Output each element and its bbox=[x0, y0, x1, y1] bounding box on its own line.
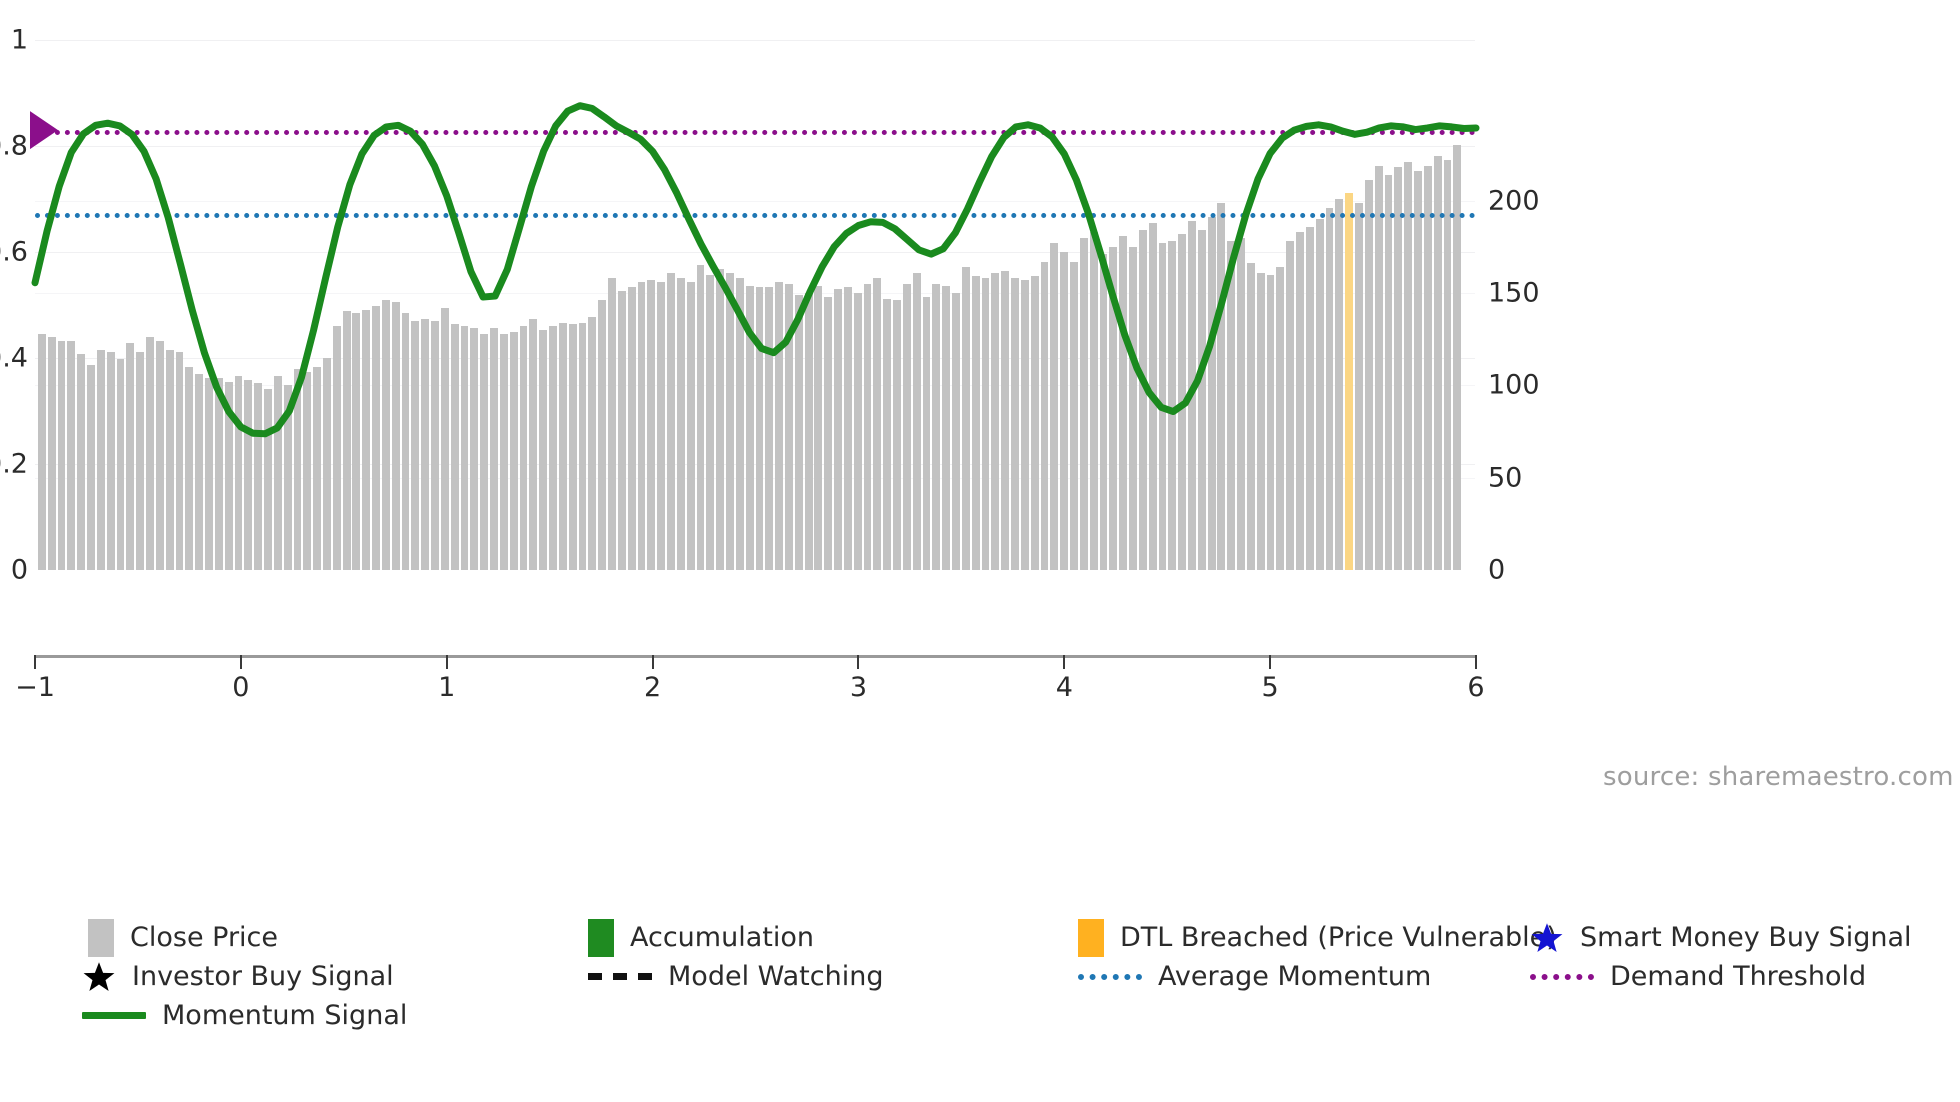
price-bar bbox=[510, 332, 518, 570]
legend-swatch-icon bbox=[588, 919, 614, 957]
price-bar bbox=[362, 310, 370, 570]
y-axis-right-tick-label: 50 bbox=[1488, 462, 1522, 493]
price-bar bbox=[1041, 262, 1049, 570]
legend-item[interactable]: DTL Breached (Price Vulnerable) bbox=[1078, 918, 1557, 957]
x-axis-tick bbox=[1475, 655, 1477, 669]
price-bar bbox=[402, 313, 410, 570]
x-axis-tick bbox=[34, 655, 36, 669]
average-momentum-line bbox=[35, 213, 1476, 218]
legend-item[interactable]: Accumulation bbox=[588, 918, 814, 957]
chart-legend: Close PriceAccumulationDTL Breached (Pri… bbox=[0, 918, 1960, 1035]
legend-dotted-line-icon bbox=[1078, 974, 1142, 980]
price-bar bbox=[156, 341, 164, 570]
x-axis-tick bbox=[240, 655, 242, 669]
price-bar bbox=[903, 284, 911, 570]
price-bar bbox=[756, 287, 764, 570]
price-bar bbox=[1178, 234, 1186, 570]
legend-item[interactable]: Close Price bbox=[88, 918, 278, 957]
price-bar bbox=[854, 293, 862, 570]
price-bar bbox=[1237, 238, 1245, 570]
price-bar bbox=[923, 297, 931, 570]
price-bar bbox=[569, 324, 577, 570]
price-bar bbox=[1060, 252, 1068, 570]
price-bar bbox=[647, 280, 655, 570]
price-bar bbox=[716, 269, 724, 570]
price-bar bbox=[1129, 247, 1137, 570]
legend-item-label: Smart Money Buy Signal bbox=[1580, 922, 1912, 953]
price-bar bbox=[814, 286, 822, 570]
price-bar bbox=[431, 321, 439, 570]
price-bar bbox=[1021, 280, 1029, 570]
x-axis-tick bbox=[1063, 655, 1065, 669]
price-bar bbox=[726, 273, 734, 570]
price-bar bbox=[873, 278, 881, 570]
price-bar bbox=[1198, 230, 1206, 570]
star-icon bbox=[82, 960, 116, 994]
price-bar bbox=[1090, 232, 1098, 570]
price-bar bbox=[1119, 236, 1127, 570]
price-bar bbox=[1355, 203, 1363, 570]
price-bar bbox=[588, 317, 596, 570]
price-bar bbox=[500, 334, 508, 570]
plot-area bbox=[35, 40, 1476, 570]
legend-item[interactable]: Average Momentum bbox=[1078, 957, 1431, 996]
y-axis-left-tick-label: 0.4 bbox=[0, 343, 28, 374]
price-bar bbox=[1267, 275, 1275, 570]
price-bar bbox=[1424, 166, 1432, 570]
price-bar bbox=[244, 380, 252, 570]
price-bar bbox=[844, 287, 852, 570]
price-bar bbox=[323, 358, 331, 570]
legend-item-label: Average Momentum bbox=[1158, 961, 1431, 992]
price-bar bbox=[77, 354, 85, 570]
price-bar bbox=[166, 350, 174, 570]
price-bar bbox=[638, 282, 646, 570]
price-bar bbox=[274, 376, 282, 570]
legend-item-label: Model Watching bbox=[668, 961, 883, 992]
x-axis-tick bbox=[446, 655, 448, 669]
price-bar bbox=[107, 352, 115, 570]
legend-row: Close PriceAccumulationDTL Breached (Pri… bbox=[0, 918, 1960, 957]
price-bar bbox=[235, 376, 243, 570]
price-bar bbox=[579, 323, 587, 570]
price-bar bbox=[628, 287, 636, 570]
x-axis-tick-label: 3 bbox=[850, 672, 867, 703]
price-bar bbox=[1188, 221, 1196, 570]
price-bar bbox=[294, 369, 302, 570]
legend-item-label: Momentum Signal bbox=[162, 1000, 407, 1031]
legend-item[interactable]: Momentum Signal bbox=[82, 996, 407, 1035]
price-bar bbox=[48, 337, 56, 570]
price-bar bbox=[126, 343, 134, 570]
price-bar bbox=[1050, 243, 1058, 570]
price-bar bbox=[529, 319, 537, 570]
bar-series-close-price bbox=[35, 40, 1475, 570]
price-bar bbox=[352, 313, 360, 570]
price-bar bbox=[67, 341, 75, 570]
price-bar bbox=[1335, 199, 1343, 570]
legend-item-label: Investor Buy Signal bbox=[132, 961, 394, 992]
x-axis-tick-label: 4 bbox=[1056, 672, 1073, 703]
price-bar bbox=[913, 273, 921, 570]
price-bar bbox=[765, 287, 773, 570]
price-bar bbox=[1257, 273, 1265, 570]
price-bar bbox=[333, 326, 341, 570]
price-bar bbox=[932, 284, 940, 570]
price-bar bbox=[97, 350, 105, 570]
legend-swatch-icon bbox=[88, 919, 114, 957]
price-bar bbox=[893, 300, 901, 570]
price-bar bbox=[1286, 241, 1294, 570]
price-bar bbox=[421, 319, 429, 570]
price-bar bbox=[1149, 223, 1157, 570]
price-bar bbox=[864, 284, 872, 570]
legend-item[interactable]: Model Watching bbox=[588, 957, 883, 996]
price-bar bbox=[1414, 171, 1422, 570]
price-bar bbox=[382, 300, 390, 570]
price-bar bbox=[618, 291, 626, 570]
price-bar bbox=[470, 328, 478, 570]
legend-item-label: Close Price bbox=[130, 922, 278, 953]
price-bar bbox=[549, 326, 557, 570]
y-axis-right-tick-label: 0 bbox=[1488, 555, 1505, 586]
price-bar bbox=[451, 324, 459, 570]
price-bar bbox=[195, 374, 203, 570]
price-bar bbox=[58, 341, 66, 570]
price-bar bbox=[117, 359, 125, 570]
price-bar bbox=[520, 326, 528, 570]
legend-row: Momentum Signal bbox=[0, 996, 1960, 1035]
price-bar bbox=[952, 293, 960, 570]
price-bar bbox=[1001, 271, 1009, 570]
y-axis-left-tick-label: 0.2 bbox=[0, 449, 28, 480]
y-axis-left-tick-label: 0.6 bbox=[0, 237, 28, 268]
legend-row: Investor Buy SignalModel WatchingAverage… bbox=[0, 957, 1960, 996]
price-bar bbox=[706, 275, 714, 570]
price-bar bbox=[1316, 219, 1324, 570]
price-bar bbox=[942, 286, 950, 570]
legend-swatch-icon bbox=[1078, 919, 1104, 957]
price-bar bbox=[205, 378, 213, 570]
price-bar bbox=[1365, 180, 1373, 570]
legend-item[interactable]: Demand Threshold bbox=[1530, 957, 1866, 996]
price-bar bbox=[795, 295, 803, 570]
legend-item[interactable]: Investor Buy Signal bbox=[82, 957, 394, 996]
legend-item-label: Demand Threshold bbox=[1610, 961, 1866, 992]
star-icon bbox=[1530, 921, 1564, 955]
source-note: source: sharemaestro.com bbox=[1603, 762, 1954, 792]
y-axis-right-tick-label: 100 bbox=[1488, 370, 1540, 401]
price-bar bbox=[834, 289, 842, 570]
x-axis-tick-label: 0 bbox=[232, 672, 249, 703]
x-axis-tick-label: 2 bbox=[644, 672, 661, 703]
price-bar bbox=[490, 328, 498, 570]
price-bar bbox=[254, 383, 262, 570]
price-bar bbox=[972, 276, 980, 570]
y-axis-left-tick-label: 1 bbox=[11, 25, 28, 56]
x-axis-tick bbox=[652, 655, 654, 669]
price-bar bbox=[1434, 156, 1442, 570]
price-bar bbox=[1394, 167, 1402, 570]
price-bar bbox=[1031, 276, 1039, 570]
price-bar bbox=[38, 334, 46, 570]
price-bar bbox=[697, 265, 705, 570]
price-bar bbox=[1217, 203, 1225, 570]
y-axis-right-tick-label: 150 bbox=[1488, 277, 1540, 308]
price-bar bbox=[1404, 162, 1412, 570]
price-bar bbox=[225, 382, 233, 570]
x-axis-tick bbox=[857, 655, 859, 669]
legend-star-icon bbox=[82, 960, 116, 994]
price-bar bbox=[982, 278, 990, 570]
price-bar bbox=[1453, 145, 1461, 570]
y-axis-left-tick-label: 0 bbox=[11, 555, 28, 586]
price-bar bbox=[136, 352, 144, 570]
price-bar bbox=[1100, 254, 1108, 570]
price-bar bbox=[1139, 230, 1147, 570]
legend-dashed-line-icon bbox=[588, 973, 652, 980]
legend-line-icon bbox=[82, 1012, 146, 1019]
price-bar bbox=[1208, 217, 1216, 570]
price-bar bbox=[303, 372, 311, 570]
x-axis-tick-label: 6 bbox=[1467, 672, 1484, 703]
x-axis-line bbox=[35, 655, 1476, 658]
price-bar bbox=[1159, 243, 1167, 570]
price-bar bbox=[1227, 241, 1235, 570]
price-bar bbox=[372, 306, 380, 570]
price-bar bbox=[1168, 241, 1176, 570]
price-bar bbox=[411, 321, 419, 570]
price-bar bbox=[1306, 227, 1314, 570]
price-bar bbox=[146, 337, 154, 570]
price-bar bbox=[667, 273, 675, 570]
price-bar bbox=[1326, 208, 1334, 570]
price-bar bbox=[215, 378, 223, 570]
price-bar bbox=[284, 385, 292, 570]
price-bar bbox=[608, 278, 616, 570]
price-bar bbox=[775, 282, 783, 570]
price-bar bbox=[176, 352, 184, 570]
price-bar bbox=[1296, 232, 1304, 570]
price-bar bbox=[1375, 166, 1383, 570]
price-bar bbox=[1070, 262, 1078, 570]
price-bar bbox=[87, 365, 95, 570]
price-bar bbox=[746, 286, 754, 570]
price-bar bbox=[824, 297, 832, 570]
legend-item-label: Accumulation bbox=[630, 922, 814, 953]
x-axis-tick-label: −1 bbox=[15, 672, 55, 703]
price-bar bbox=[677, 278, 685, 570]
price-bar bbox=[343, 311, 351, 570]
price-bar bbox=[991, 273, 999, 570]
price-bar bbox=[461, 326, 469, 570]
price-bar bbox=[1385, 175, 1393, 570]
legend-star-icon bbox=[1530, 921, 1564, 955]
price-bar bbox=[785, 284, 793, 570]
demand-threshold-line bbox=[35, 130, 1476, 135]
price-bar bbox=[1109, 247, 1117, 570]
price-bar bbox=[1276, 267, 1284, 570]
x-axis-tick bbox=[1269, 655, 1271, 669]
legend-item-label: DTL Breached (Price Vulnerable) bbox=[1120, 922, 1557, 953]
price-bar bbox=[264, 389, 272, 570]
price-bar bbox=[687, 282, 695, 570]
legend-dotted-line-icon bbox=[1530, 974, 1594, 980]
price-bar bbox=[313, 367, 321, 570]
price-bar bbox=[657, 282, 665, 570]
price-bar bbox=[805, 293, 813, 570]
price-bar bbox=[441, 308, 449, 570]
legend-item[interactable]: Smart Money Buy Signal bbox=[1530, 918, 1912, 957]
price-bar bbox=[1247, 263, 1255, 570]
x-axis-tick-label: 5 bbox=[1262, 672, 1279, 703]
price-bar bbox=[598, 300, 606, 570]
price-bar bbox=[1444, 160, 1452, 570]
price-bar bbox=[559, 323, 567, 570]
price-bar bbox=[962, 267, 970, 570]
price-bar bbox=[480, 334, 488, 570]
price-bar-dtl-breached bbox=[1345, 193, 1353, 570]
y-axis-right-tick-label: 200 bbox=[1488, 185, 1540, 216]
price-bar bbox=[539, 330, 547, 570]
price-bar bbox=[1080, 238, 1088, 570]
y-axis-left-tick-label: 0.8 bbox=[0, 131, 28, 162]
price-bar bbox=[1011, 278, 1019, 570]
chart-canvas: 00.20.40.60.81 050100150200 −10123456 so… bbox=[0, 0, 1960, 1102]
price-bar bbox=[392, 302, 400, 570]
x-axis-tick-label: 1 bbox=[438, 672, 455, 703]
price-bar bbox=[185, 367, 193, 570]
price-bar bbox=[883, 299, 891, 570]
price-bar bbox=[736, 278, 744, 570]
